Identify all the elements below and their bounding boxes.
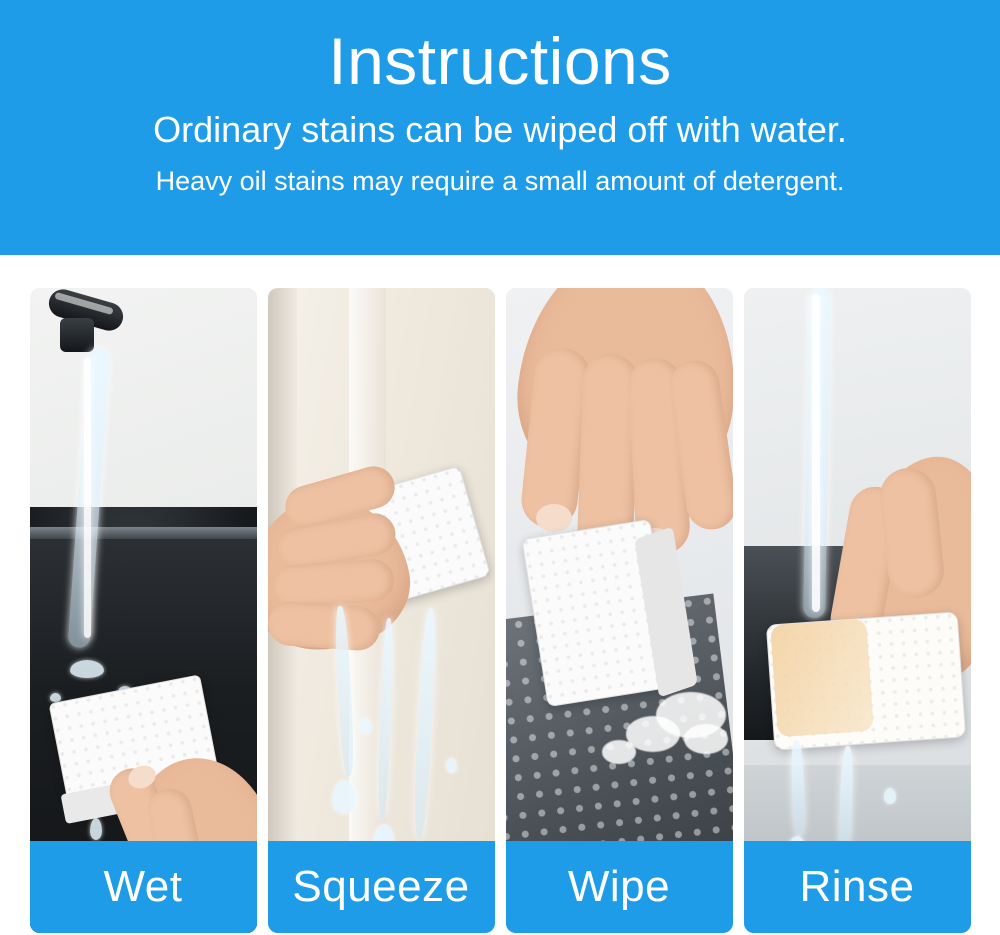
- step-card-4: Rinse: [744, 288, 971, 933]
- sponge-soap-stain: [770, 619, 874, 737]
- water-droplet: [70, 660, 104, 678]
- step-card-1: Wet: [30, 288, 257, 933]
- water-droplet: [360, 718, 372, 734]
- step-caption-3: Wipe: [506, 841, 733, 933]
- fingernail: [536, 504, 572, 532]
- water-stream-highlight: [812, 294, 820, 612]
- foam: [602, 740, 636, 764]
- step-photo-wet: [30, 288, 257, 933]
- header-subtitle-secondary: Heavy oil stains may require a small amo…: [156, 162, 845, 200]
- water-droplet: [90, 818, 102, 840]
- step-photo-squeeze: [268, 288, 495, 933]
- step-card-2: Squeeze: [268, 288, 495, 933]
- water-droplet: [446, 758, 457, 773]
- step-photo-wipe: [506, 288, 733, 933]
- water-droplet: [332, 780, 356, 814]
- faucet-spout-icon: [60, 318, 94, 352]
- steps-row: Wet: [0, 255, 1000, 935]
- foam: [684, 724, 728, 754]
- water-droplet: [884, 788, 896, 804]
- instructions-page: Instructions Ordinary stains can be wipe…: [0, 0, 1000, 935]
- step-caption-1: Wet: [30, 841, 257, 933]
- page-title: Instructions: [328, 22, 671, 100]
- step-caption-4: Rinse: [744, 841, 971, 933]
- step-photo-rinse: [744, 288, 971, 933]
- thumb: [268, 600, 381, 652]
- finger: [272, 558, 395, 608]
- header-banner: Instructions Ordinary stains can be wipe…: [0, 0, 1000, 255]
- counter-edge: [30, 527, 257, 539]
- step-card-3: Wipe: [506, 288, 733, 933]
- step-caption-2: Squeeze: [268, 841, 495, 933]
- header-subtitle-primary: Ordinary stains can be wiped off with wa…: [153, 106, 847, 154]
- water-stream-highlight: [84, 358, 91, 638]
